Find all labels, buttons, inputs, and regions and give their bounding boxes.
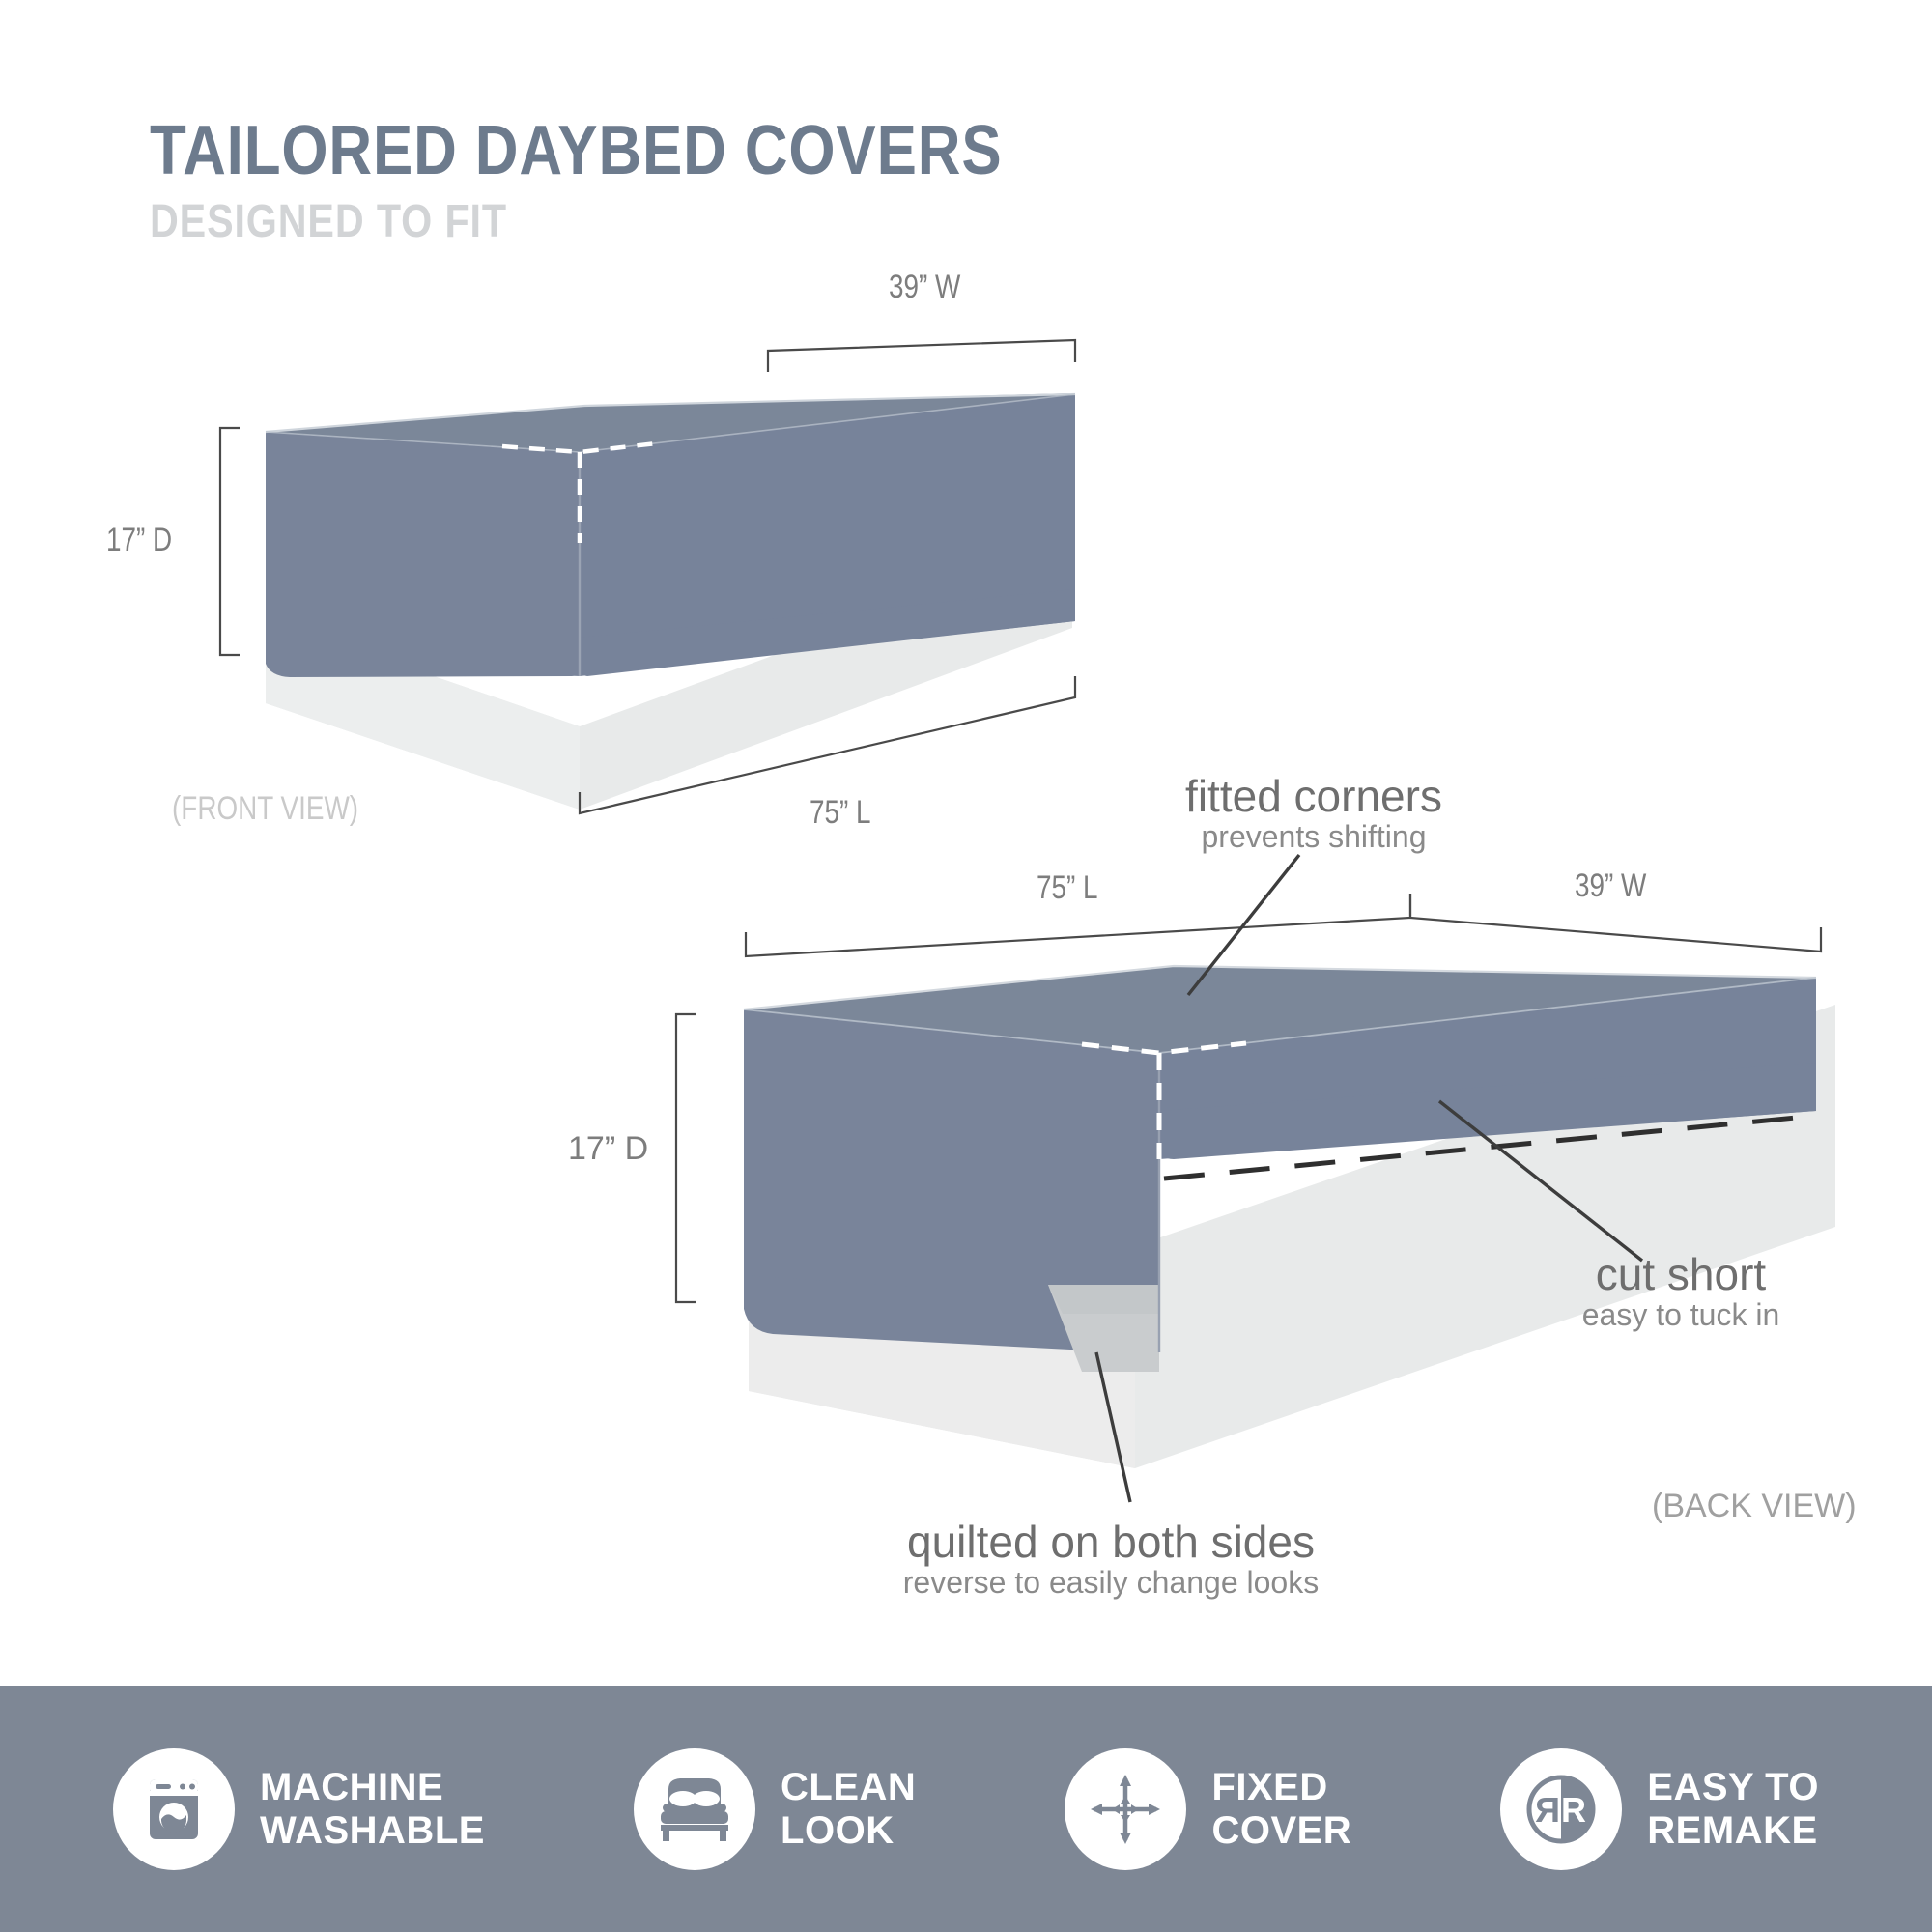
feature-easy-to-remake-line2: REMAKE <box>1647 1809 1819 1853</box>
feature-clean-look-label: CLEAN LOOK <box>781 1766 916 1853</box>
svg-text:R: R <box>1561 1790 1586 1830</box>
front-view-label: (FRONT VIEW) <box>172 790 358 828</box>
front-view-diagram <box>220 340 1075 813</box>
callout-fitted-corners-title: fitted corners <box>1101 773 1526 819</box>
bed-icon <box>655 1772 734 1847</box>
feature-machine-washable-line1: MACHINE <box>260 1766 485 1809</box>
front-dim-length-label: 75” L <box>810 794 871 832</box>
four-arrows-icon <box>1087 1771 1164 1848</box>
front-dim-width-bracket <box>768 340 1075 372</box>
callout-cut-short-subtitle: easy to tuck in <box>1488 1297 1874 1333</box>
bed-icon-circle <box>634 1748 755 1870</box>
feature-machine-washable: MACHINE WASHABLE <box>113 1748 485 1870</box>
feature-clean-look-line1: CLEAN <box>781 1766 916 1809</box>
callout-cut-short-title: cut short <box>1488 1251 1874 1297</box>
feature-fixed-cover-label: FIXED COVER <box>1211 1766 1351 1853</box>
back-dim-width-label: 39” W <box>1575 867 1646 905</box>
back-dim-depth-bracket <box>676 1014 696 1302</box>
feature-easy-to-remake-line1: EASY TO <box>1647 1766 1819 1809</box>
feature-machine-washable-label: MACHINE WASHABLE <box>260 1766 485 1853</box>
svg-text:R: R <box>1535 1790 1560 1830</box>
feature-clean-look: CLEAN LOOK <box>634 1748 916 1870</box>
front-dim-width-label: 39” W <box>889 269 960 306</box>
back-cover-corner-flap-shadow <box>1048 1285 1159 1314</box>
callout-cut-short: cut short easy to tuck in <box>1488 1251 1874 1333</box>
feature-machine-washable-line2: WASHABLE <box>260 1809 485 1853</box>
feature-fixed-cover-line2: COVER <box>1211 1809 1351 1853</box>
washing-machine-icon-circle <box>113 1748 235 1870</box>
callout-fitted-corners-subtitle: prevents shifting <box>1101 819 1526 855</box>
callout-quilted-title: quilted on both sides <box>811 1519 1410 1565</box>
back-view-label: (BACK VIEW) <box>1652 1488 1857 1525</box>
four-arrows-icon-circle <box>1065 1748 1186 1870</box>
feature-clean-look-line2: LOOK <box>781 1809 916 1853</box>
callout-fitted-corners: fitted corners prevents shifting <box>1101 773 1526 855</box>
feature-easy-to-remake-label: EASY TO REMAKE <box>1647 1766 1819 1853</box>
front-cover-left-hem <box>266 638 580 677</box>
washing-machine-icon <box>136 1772 212 1847</box>
callout-quilted-both-sides: quilted on both sides reverse to easily … <box>811 1519 1410 1601</box>
diagram-svg <box>0 0 1932 1686</box>
back-view-diagram <box>676 855 1835 1502</box>
reversible-icon: R R <box>1520 1769 1602 1850</box>
back-dim-depth-label: 17” D <box>568 1130 648 1168</box>
feature-fixed-cover: FIXED COVER <box>1065 1748 1351 1870</box>
feature-easy-to-remake: R R EASY TO REMAKE <box>1500 1748 1819 1870</box>
callout-quilted-subtitle: reverse to easily change looks <box>811 1565 1410 1601</box>
diagram-stage: 39” W 17” D 75” L (FRONT VIEW) 75” L 39”… <box>0 0 1932 1686</box>
feature-fixed-cover-line1: FIXED <box>1211 1766 1351 1809</box>
front-dim-depth-bracket <box>220 428 240 655</box>
reversible-icon-circle: R R <box>1500 1748 1622 1870</box>
feature-bar: MACHINE WASHABLE CLEAN LOOK <box>0 1686 1932 1932</box>
front-dim-depth-label: 17” D <box>106 522 172 559</box>
back-dim-length-label: 75” L <box>1037 869 1098 907</box>
